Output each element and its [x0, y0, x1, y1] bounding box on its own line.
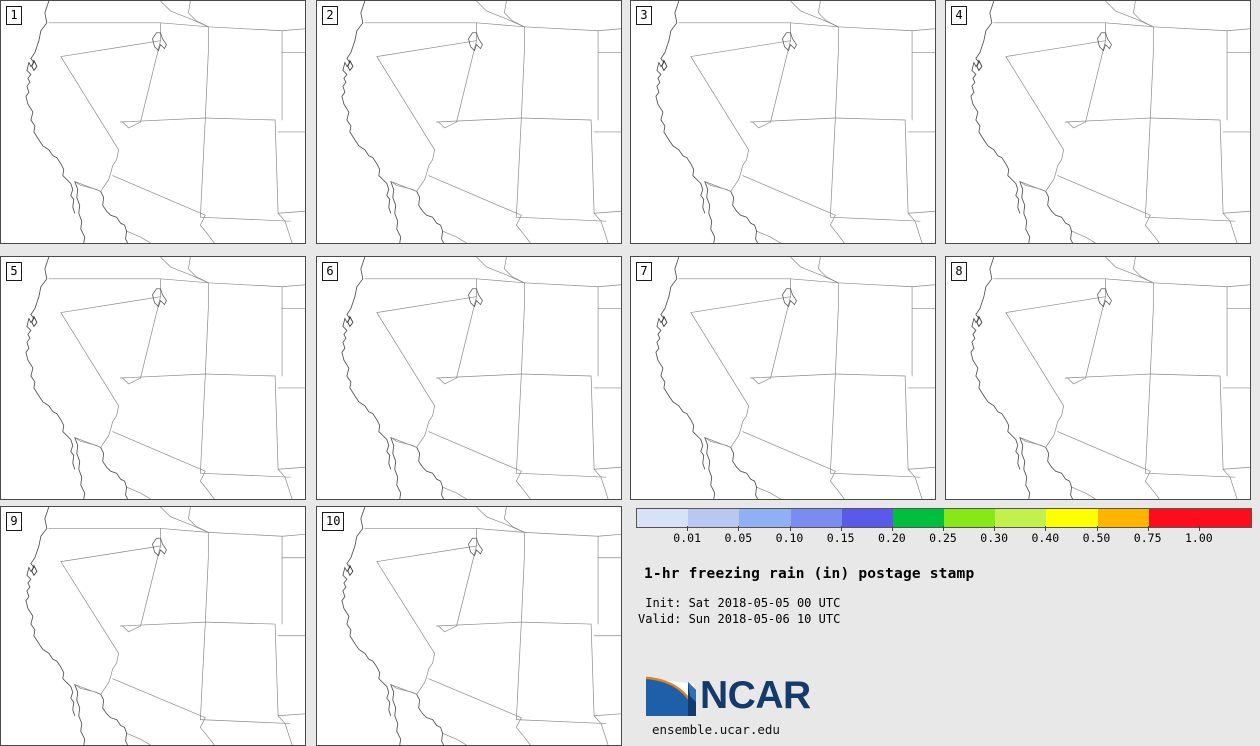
colorbar-label-1.00: 1.00 [1185, 531, 1213, 545]
stamp-panel-5[interactable]: 5 [0, 256, 306, 500]
colorbar-band-2 [739, 509, 790, 527]
stamp-panel-2[interactable]: 2 [316, 0, 622, 244]
stamp-panel-8[interactable]: 8 [945, 256, 1251, 500]
init-time-label: Init: Sat 2018-05-05 00 UTC [638, 596, 840, 610]
stamp-panel-3[interactable]: 3 [630, 0, 936, 244]
colorbar-label-0.40: 0.40 [1031, 531, 1059, 545]
stamp-panel-4[interactable]: 4 [945, 0, 1251, 244]
colorbar-label-0.30: 0.30 [980, 531, 1008, 545]
colorbar-label-0.10: 0.10 [776, 531, 804, 545]
postage-stamp-figure: 12345678910 0.010.050.100.150.200.250.30… [0, 0, 1260, 746]
stamp-panel-6[interactable]: 6 [316, 256, 622, 500]
colorbar-label-0.50: 0.50 [1083, 531, 1111, 545]
stamp-panel-9[interactable]: 9 [0, 506, 306, 746]
colorbar-band-0 [637, 509, 688, 527]
colorbar [636, 508, 1252, 528]
colorbar-band-8 [1046, 509, 1097, 527]
stamp-number-label: 1 [6, 6, 22, 25]
stamp-number-label: 3 [636, 6, 652, 25]
colorbar-band-5 [893, 509, 944, 527]
colorbar-band-6 [944, 509, 995, 527]
colorbar-band-3 [791, 509, 842, 527]
colorbar-label-0.01: 0.01 [673, 531, 701, 545]
stamp-number-label: 2 [322, 6, 338, 25]
ncar-logo[interactable]: NCAR ensemble.ucar.edu [644, 672, 844, 744]
stamp-number-label: 10 [322, 512, 344, 531]
legend-and-info-pane: 0.010.050.100.150.200.250.300.400.500.75… [630, 500, 1260, 746]
valid-time-label: Valid: Sun 2018-05-06 10 UTC [638, 612, 840, 626]
ncar-wordmark: NCAR [700, 674, 811, 718]
colorbar-band-11 [1200, 509, 1251, 527]
ncar-swoosh-icon [644, 672, 702, 718]
colorbar-label-0.25: 0.25 [929, 531, 957, 545]
colorbar-label-0.75: 0.75 [1134, 531, 1162, 545]
stamp-number-label: 8 [951, 262, 967, 281]
colorbar-label-0.05: 0.05 [724, 531, 752, 545]
stamp-number-label: 5 [6, 262, 22, 281]
stamp-panel-7[interactable]: 7 [630, 256, 936, 500]
ncar-url-label: ensemble.ucar.edu [652, 722, 780, 737]
stamp-number-label: 9 [6, 512, 22, 531]
stamp-number-label: 6 [322, 262, 338, 281]
stamp-panel-1[interactable]: 1 [0, 0, 306, 244]
colorbar-tick-labels: 0.010.050.100.150.200.250.300.400.500.75… [630, 531, 1260, 547]
stamp-number-label: 7 [636, 262, 652, 281]
colorbar-band-10 [1149, 509, 1200, 527]
colorbar-band-7 [995, 509, 1046, 527]
colorbar-band-4 [842, 509, 893, 527]
page-title: 1-hr freezing rain (in) postage stamp [644, 566, 974, 582]
colorbar-label-0.20: 0.20 [878, 531, 906, 545]
colorbar-label-0.15: 0.15 [827, 531, 855, 545]
colorbar-band-1 [688, 509, 739, 527]
colorbar-band-9 [1098, 509, 1149, 527]
stamp-panel-10[interactable]: 10 [316, 506, 622, 746]
stamp-number-label: 4 [951, 6, 967, 25]
